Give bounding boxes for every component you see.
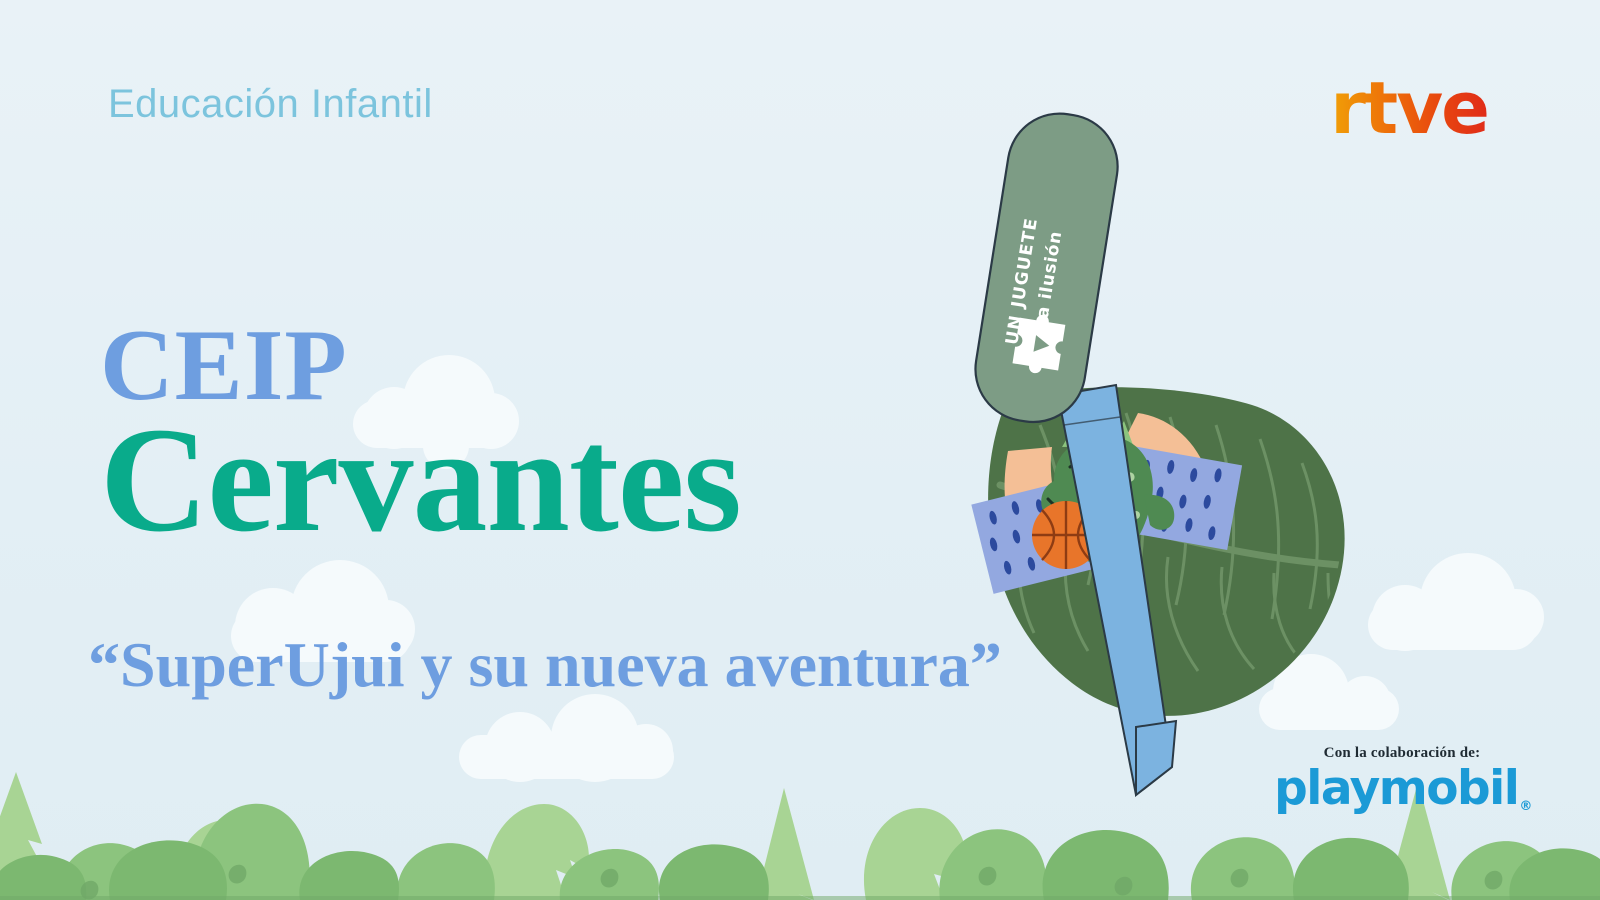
- playmobil-logo: playmobil®: [1274, 765, 1530, 812]
- school-name: Cervantes: [100, 409, 741, 552]
- campaign-banner: UN JUGUETE una ilusión: [968, 106, 1125, 429]
- page-title: CEIP Cervantes: [100, 318, 741, 551]
- collaboration-label: Con la colaboración de:: [1272, 745, 1532, 762]
- page-eyebrow: Educación Infantil: [108, 82, 433, 127]
- project-subtitle: “SuperUjui y su nueva aventura”: [88, 628, 1002, 702]
- playmobil-wordmark: playmobil: [1274, 761, 1518, 816]
- collaboration-block: Con la colaboración de: playmobil®: [1272, 745, 1532, 812]
- hero-illustration: UN JUGUETE una ilusión: [930, 95, 1390, 835]
- trademark-symbol: ®: [1519, 799, 1531, 814]
- title-slide: Educación Infantil rtve CEIP Cervantes “…: [0, 0, 1600, 900]
